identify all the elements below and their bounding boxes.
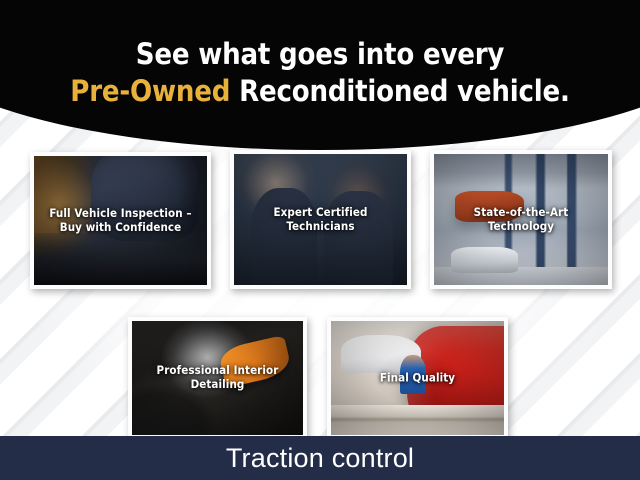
caption-bar: Traction control	[0, 436, 640, 480]
headline: See what goes into every Pre-Owned Recon…	[70, 36, 569, 110]
card-label-line-1: Full Vehicle Inspection –	[40, 206, 201, 220]
card-label: Full Vehicle Inspection – Buy with Confi…	[34, 206, 207, 235]
caption-text: Traction control	[226, 445, 414, 472]
card-label-line-2: Detailing	[138, 377, 297, 391]
feature-card-state-of-the-art-technology[interactable]: State-of-the-Art Technology	[430, 150, 612, 289]
card-photo: Professional Interior Detailing	[132, 321, 303, 435]
feature-card-full-vehicle-inspection[interactable]: Full Vehicle Inspection – Buy with Confi…	[30, 152, 211, 289]
headline-highlight: Pre-Owned	[70, 74, 230, 108]
card-label-line-1: Final Quality	[337, 371, 498, 385]
header-content: See what goes into every Pre-Owned Recon…	[0, 0, 640, 150]
card-label: Professional Interior Detailing	[132, 363, 303, 392]
promo-slide: Full Vehicle Inspection – Buy with Confi…	[0, 0, 640, 480]
card-label-line-1: Professional Interior	[138, 363, 297, 377]
card-label-line-1: Expert Certified Technicians	[240, 205, 401, 234]
card-photo: Final Quality	[331, 321, 504, 435]
card-label-line-1: State-of-the-Art Technology	[440, 205, 602, 234]
card-photo: State-of-the-Art Technology	[434, 154, 608, 285]
card-label-line-2: Buy with Confidence	[40, 220, 201, 234]
headline-line-2-rest: Reconditioned vehicle.	[230, 74, 569, 108]
card-label: State-of-the-Art Technology	[434, 205, 608, 234]
feature-card-final-quality[interactable]: Final Quality	[327, 317, 508, 439]
card-photo: Expert Certified Technicians	[234, 154, 407, 285]
feature-card-expert-certified-technicians[interactable]: Expert Certified Technicians	[230, 150, 411, 289]
card-photo: Full Vehicle Inspection – Buy with Confi…	[34, 156, 207, 285]
headline-line-2: Pre-Owned Reconditioned vehicle.	[70, 73, 569, 110]
card-label: Final Quality	[331, 371, 504, 385]
feature-card-professional-interior-detailing[interactable]: Professional Interior Detailing	[128, 317, 307, 439]
header-banner: See what goes into every Pre-Owned Recon…	[0, 0, 640, 150]
card-label: Expert Certified Technicians	[234, 205, 407, 234]
headline-line-1: See what goes into every	[70, 36, 569, 73]
